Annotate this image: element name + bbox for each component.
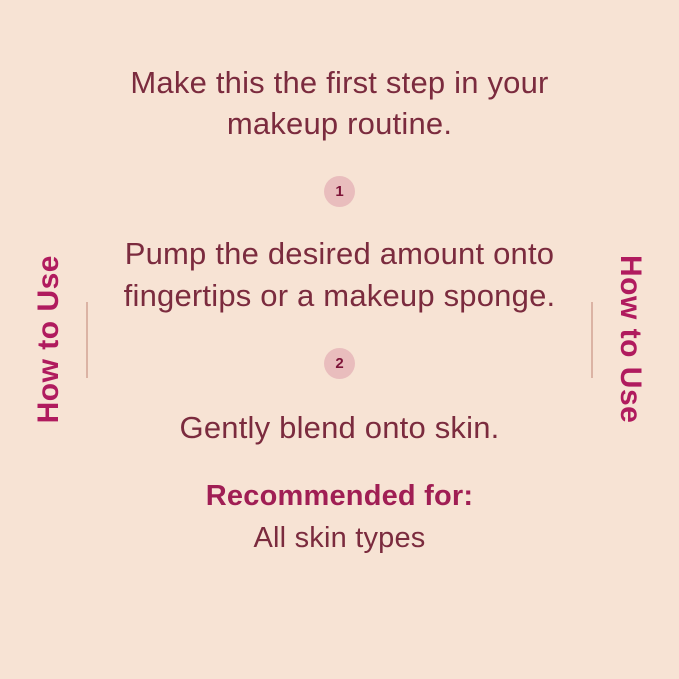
intro-text: Make this the first step in your makeup … — [120, 62, 560, 144]
right-rail-inner: How to Use — [591, 0, 645, 679]
step-1-text: Pump the desired amount onto fingertips … — [120, 233, 560, 315]
step-2-text: Gently blend onto skin. — [180, 407, 500, 448]
recommended-for-title: Recommended for: — [206, 478, 473, 516]
step-badge-2: 2 — [324, 348, 355, 379]
step-badge-1: 1 — [324, 176, 355, 207]
right-divider-line — [591, 302, 593, 378]
left-rail-inner: How to Use — [34, 0, 88, 679]
how-to-use-panel: How to Use How to Use Make this the firs… — [0, 0, 679, 679]
side-label-right: How to Use — [615, 255, 645, 423]
left-divider-line — [86, 302, 88, 378]
instructions-content: Make this the first step in your makeup … — [110, 0, 569, 679]
recommended-for-value: All skin types — [253, 520, 425, 558]
side-label-left: How to Use — [34, 255, 64, 423]
